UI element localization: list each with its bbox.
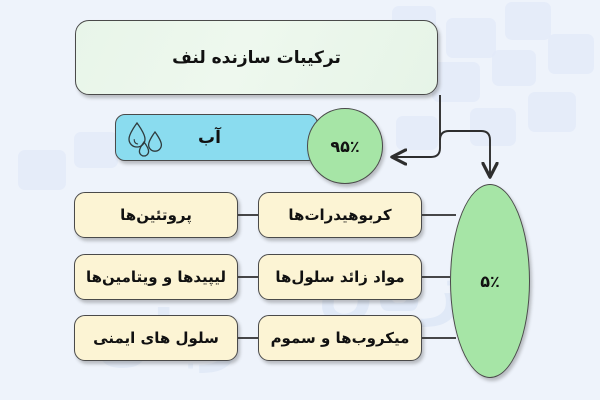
water-component-box: آب [115,114,318,161]
component-box-microbes-toxins: میکروب‌ها و سموم [258,315,422,361]
component-label: سلول های ایمنی [93,329,219,347]
watermark-tile [548,34,594,74]
water-percent-value: ۹۵٪ [330,137,359,156]
page-title: ترکیبات سازنده لنف [172,48,341,68]
watermark-tile [18,150,66,190]
watermark-tile [74,132,118,168]
component-box-proteins: پروتئین‌ها [74,192,238,238]
watermark-tile [492,50,536,86]
component-box-lipids-vitamins: لیپیدها و ویتامین‌ها [74,254,238,300]
diagram-canvas: زبان زبان ترکیبات سازنده لنف [0,0,600,400]
watermark-tile [528,92,576,132]
water-percent-badge: ۹۵٪ [307,108,383,184]
solids-percent-value: ۵٪ [480,272,500,291]
component-box-immune-cells: سلول های ایمنی [74,315,238,361]
water-drops-icon [124,120,170,158]
component-box-carbohydrates: کربوهیدرات‌ها [258,192,422,238]
watermark-tile [432,62,480,102]
component-label: میکروب‌ها و سموم [271,329,410,347]
component-box-cell-waste: مواد زائد سلول‌ها [258,254,422,300]
component-label: پروتئین‌ها [120,206,192,224]
water-label: آب [198,128,221,148]
diagram-title-box: ترکیبات سازنده لنف [75,20,438,95]
watermark-tile [505,2,551,40]
solids-percent-badge: ۵٪ [450,184,530,378]
watermark-tile [396,116,438,150]
component-label: کربوهیدرات‌ها [288,206,391,224]
component-label: مواد زائد سلول‌ها [275,268,404,286]
watermark-tile [446,18,496,58]
watermark-tile [470,108,516,146]
component-label: لیپیدها و ویتامین‌ها [86,268,226,286]
